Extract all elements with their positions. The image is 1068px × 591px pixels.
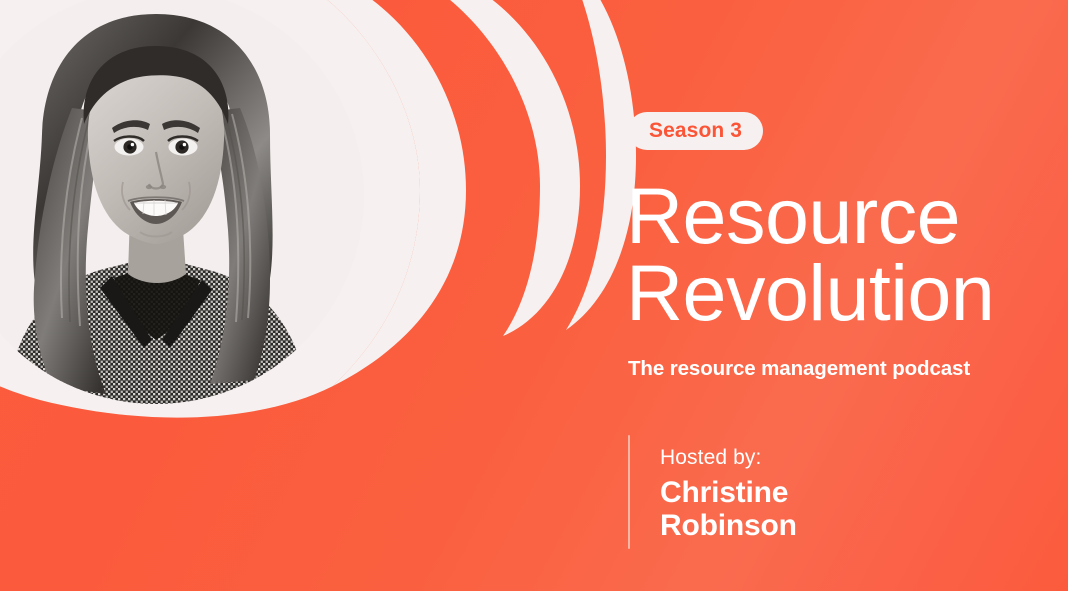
season-badge: Season 3 <box>628 112 763 150</box>
text-column: Season 3 Resource Revolution The resourc… <box>628 0 1048 591</box>
subtitle: The resource management podcast <box>628 357 970 381</box>
host-portrait <box>0 0 364 404</box>
host-name-line-2: Robinson <box>660 510 797 542</box>
host-name: Christine Robinson <box>660 477 797 542</box>
host-divider <box>628 435 630 549</box>
host-label: Hosted by: <box>660 445 797 470</box>
host-block: Hosted by: Christine Robinson <box>628 435 797 549</box>
host-name-line-1: Christine <box>660 477 797 509</box>
title-line-2: Revolution <box>626 255 1046 332</box>
page-title: Resource Revolution <box>626 178 1046 331</box>
podcast-cover: Season 3 Resource Revolution The resourc… <box>0 0 1068 591</box>
title-line-1: Resource <box>626 178 1046 255</box>
host-text: Hosted by: Christine Robinson <box>660 435 797 542</box>
